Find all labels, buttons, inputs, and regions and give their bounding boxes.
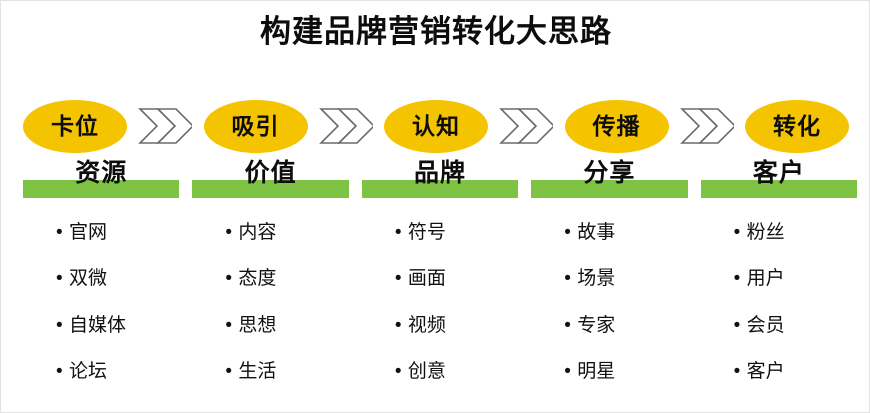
bullet-dot-icon: • <box>56 314 69 338</box>
bullet-dot-icon: • <box>395 360 408 384</box>
category-header-bar-4: 分享 <box>531 180 687 198</box>
page-title: 构建品牌营销转化大思路 <box>1 12 870 52</box>
list-item: • 官网 <box>23 221 179 267</box>
category-header-label-1: 资源 <box>23 158 179 188</box>
stage-ellipse-2[interactable]: 吸引 <box>204 100 308 153</box>
stage-label-5: 转化 <box>773 115 821 138</box>
category-column-3: • 符号 • 画面 • 视频 • 创意 <box>362 211 518 406</box>
list-item-label: 画面 <box>408 267 446 291</box>
list-item: • 场景 <box>531 267 687 313</box>
stage-cell-3: 认知 <box>384 100 488 153</box>
list-item-label: 符号 <box>408 221 446 245</box>
bullet-dot-icon: • <box>395 221 408 245</box>
category-header-label-5: 客户 <box>701 158 857 188</box>
category-column-2: • 内容 • 态度 • 思想 • 生活 <box>192 211 348 406</box>
list-item-label: 生活 <box>238 360 276 384</box>
list-item: • 内容 <box>192 221 348 267</box>
bullet-dot-icon: • <box>734 314 747 338</box>
list-item: • 创意 <box>362 360 518 406</box>
infographic-canvas: 构建品牌营销转化大思路 卡位 吸引 认知 <box>0 0 870 413</box>
category-column-1: • 官网 • 双微 • 自媒体 • 论坛 <box>23 211 179 406</box>
bullet-dot-icon: • <box>225 267 238 291</box>
list-item: • 粉丝 <box>701 221 857 267</box>
list-item-label: 思想 <box>238 314 276 338</box>
category-column-5: • 粉丝 • 用户 • 会员 • 客户 <box>701 211 857 406</box>
list-item: • 画面 <box>362 267 518 313</box>
category-header-bar-5: 客户 <box>701 180 857 198</box>
list-item-label: 双微 <box>69 267 107 291</box>
list-item: • 符号 <box>362 221 518 267</box>
list-item: • 客户 <box>701 360 857 406</box>
double-chevron-right-icon-1 <box>136 105 194 147</box>
stage-cell-2: 吸引 <box>204 100 308 153</box>
list-item-label: 官网 <box>69 221 107 245</box>
list-item: • 故事 <box>531 221 687 267</box>
double-chevron-right-icon-3 <box>497 105 555 147</box>
list-item-label: 用户 <box>747 267 785 291</box>
list-item: • 态度 <box>192 267 348 313</box>
stage-label-1: 卡位 <box>51 115 99 138</box>
bullet-dot-icon: • <box>734 267 747 291</box>
list-item: • 用户 <box>701 267 857 313</box>
list-item-label: 会员 <box>747 314 785 338</box>
stage-flow-row: 卡位 吸引 认知 <box>23 98 849 154</box>
list-item-label: 态度 <box>238 267 276 291</box>
list-item: • 自媒体 <box>23 314 179 360</box>
category-header-bar-1: 资源 <box>23 180 179 198</box>
category-header-row: 资源 价值 品牌 分享 客户 <box>23 180 857 198</box>
bullet-dot-icon: • <box>225 221 238 245</box>
bullet-dot-icon: • <box>564 360 577 384</box>
bullet-dot-icon: • <box>564 221 577 245</box>
list-item-label: 内容 <box>238 221 276 245</box>
list-item-label: 自媒体 <box>69 314 126 338</box>
list-item-label: 场景 <box>577 267 615 291</box>
stage-ellipse-1[interactable]: 卡位 <box>23 100 127 153</box>
stage-label-3: 认知 <box>412 115 460 138</box>
category-column-4: • 故事 • 场景 • 专家 • 明星 <box>531 211 687 406</box>
list-item-label: 故事 <box>577 221 615 245</box>
list-item: • 思想 <box>192 314 348 360</box>
stage-cell-1: 卡位 <box>23 100 127 153</box>
list-item-label: 粉丝 <box>747 221 785 245</box>
bullet-dot-icon: • <box>564 314 577 338</box>
bullet-dot-icon: • <box>395 267 408 291</box>
list-item-label: 明星 <box>577 360 615 384</box>
bullet-dot-icon: • <box>225 314 238 338</box>
bullet-dot-icon: • <box>734 360 747 384</box>
bullet-dot-icon: • <box>564 267 577 291</box>
bullet-dot-icon: • <box>395 314 408 338</box>
stage-cell-5: 转化 <box>745 100 849 153</box>
bullet-dot-icon: • <box>225 360 238 384</box>
bullet-dot-icon: • <box>56 267 69 291</box>
stage-label-4: 传播 <box>593 115 641 138</box>
category-header-label-4: 分享 <box>531 158 687 188</box>
list-item-label: 专家 <box>577 314 615 338</box>
category-header-bar-3: 品牌 <box>362 180 518 198</box>
stage-ellipse-4[interactable]: 传播 <box>565 100 669 153</box>
stage-cell-4: 传播 <box>565 100 669 153</box>
bullet-dot-icon: • <box>734 221 747 245</box>
category-header-label-3: 品牌 <box>362 158 518 188</box>
list-item: • 专家 <box>531 314 687 360</box>
list-item-label: 客户 <box>747 360 785 384</box>
list-item-label: 视频 <box>408 314 446 338</box>
category-columns: • 官网 • 双微 • 自媒体 • 论坛 • 内容 • 态度 <box>23 211 857 406</box>
list-item: • 会员 <box>701 314 857 360</box>
stage-ellipse-5[interactable]: 转化 <box>745 100 849 153</box>
list-item: • 明星 <box>531 360 687 406</box>
double-chevron-right-icon-4 <box>678 105 736 147</box>
stage-label-2: 吸引 <box>232 115 280 138</box>
category-header-label-2: 价值 <box>192 158 348 188</box>
list-item: • 双微 <box>23 267 179 313</box>
bullet-dot-icon: • <box>56 360 69 384</box>
list-item: • 视频 <box>362 314 518 360</box>
list-item-label: 论坛 <box>69 360 107 384</box>
bullet-dot-icon: • <box>56 221 69 245</box>
double-chevron-right-icon-2 <box>317 105 375 147</box>
category-header-bar-2: 价值 <box>192 180 348 198</box>
stage-ellipse-3[interactable]: 认知 <box>384 100 488 153</box>
list-item: • 论坛 <box>23 360 179 406</box>
list-item-label: 创意 <box>408 360 446 384</box>
list-item: • 生活 <box>192 360 348 406</box>
